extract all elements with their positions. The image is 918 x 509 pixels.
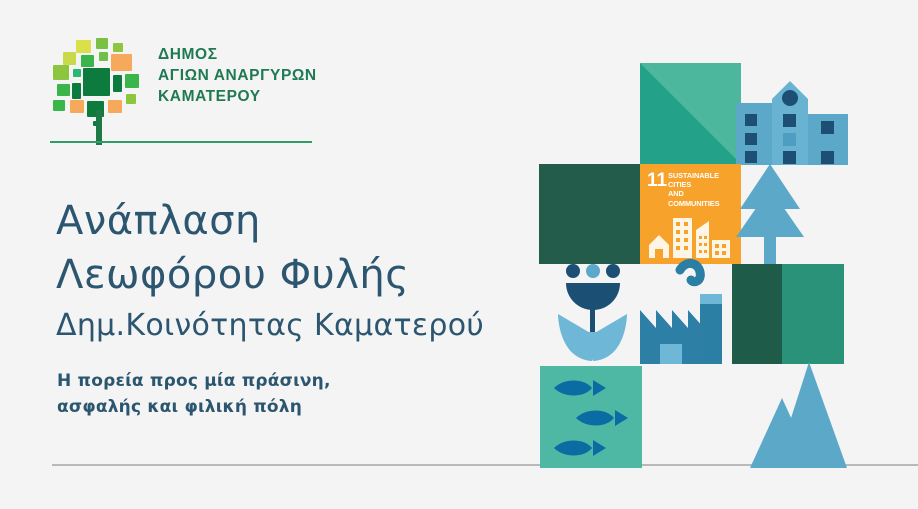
page-title: Ανάπλαση Λεωφόρου Φυλής Δημ.Κοινότητας Κ… <box>56 194 526 348</box>
buildings-icon <box>736 81 848 165</box>
tulip-icon <box>556 264 636 364</box>
sdg-title: SUSTAINABLE CITIES AND COMMUNITIES <box>668 171 737 208</box>
logo-line-3: ΚΑΜΑΤΕΡΟΥ <box>158 86 388 107</box>
sustainability-collage: 11 SUSTAINABLE CITIES AND COMMUNITIES <box>538 58 898 470</box>
subtitle-line-1: Η πορεία προς μία πράσινη, <box>57 368 477 394</box>
title-line-3: Δημ.Κοινότητας Καματερού <box>56 304 526 348</box>
diagonal-split-square-icon <box>640 63 741 164</box>
tree-trunk <box>96 110 102 145</box>
title-line-2: Λεωφόρου Φυλής <box>56 248 526 302</box>
sdg-11-icon: 11 SUSTAINABLE CITIES AND COMMUNITIES <box>640 164 741 264</box>
municipality-logo: ΔΗΜΟΣ ΑΓΙΩΝ ΑΝΑΡΓΥΡΩΝ ΚΑΜΑΤΕΡΟΥ <box>52 38 342 148</box>
city-skyline-icon <box>647 218 731 258</box>
sdg-number: 11 <box>647 171 667 190</box>
fish-icon <box>540 366 642 468</box>
logo-line-1: ΔΗΜΟΣ <box>158 44 388 65</box>
split-square-icon <box>732 264 844 364</box>
title-line-1: Ανάπλαση <box>56 194 526 248</box>
slide-canvas: ΔΗΜΟΣ ΑΓΙΩΝ ΑΝΑΡΓΥΡΩΝ ΚΑΜΑΤΕΡΟΥ Ανάπλαση… <box>0 0 918 509</box>
subtitle-line-2: ασφαλής και φιλική πόλη <box>57 394 477 420</box>
factory-icon <box>638 256 744 364</box>
sdg-title-line-1: SUSTAINABLE CITIES <box>668 171 737 189</box>
logo-line-2: ΑΓΙΩΝ ΑΝΑΡΓΥΡΩΝ <box>158 65 388 86</box>
pine-tree-icon <box>734 164 806 266</box>
sdg-title-line-2: AND COMMUNITIES <box>668 189 737 207</box>
logo-divider <box>50 141 312 143</box>
subtitle: Η πορεία προς μία πράσινη, ασφαλής και φ… <box>57 368 477 420</box>
solid-square-icon <box>539 164 640 264</box>
mosaic-tree-icon <box>52 38 150 138</box>
mountains-icon <box>735 360 855 468</box>
logo-text: ΔΗΜΟΣ ΑΓΙΩΝ ΑΝΑΡΓΥΡΩΝ ΚΑΜΑΤΕΡΟΥ <box>158 44 388 107</box>
